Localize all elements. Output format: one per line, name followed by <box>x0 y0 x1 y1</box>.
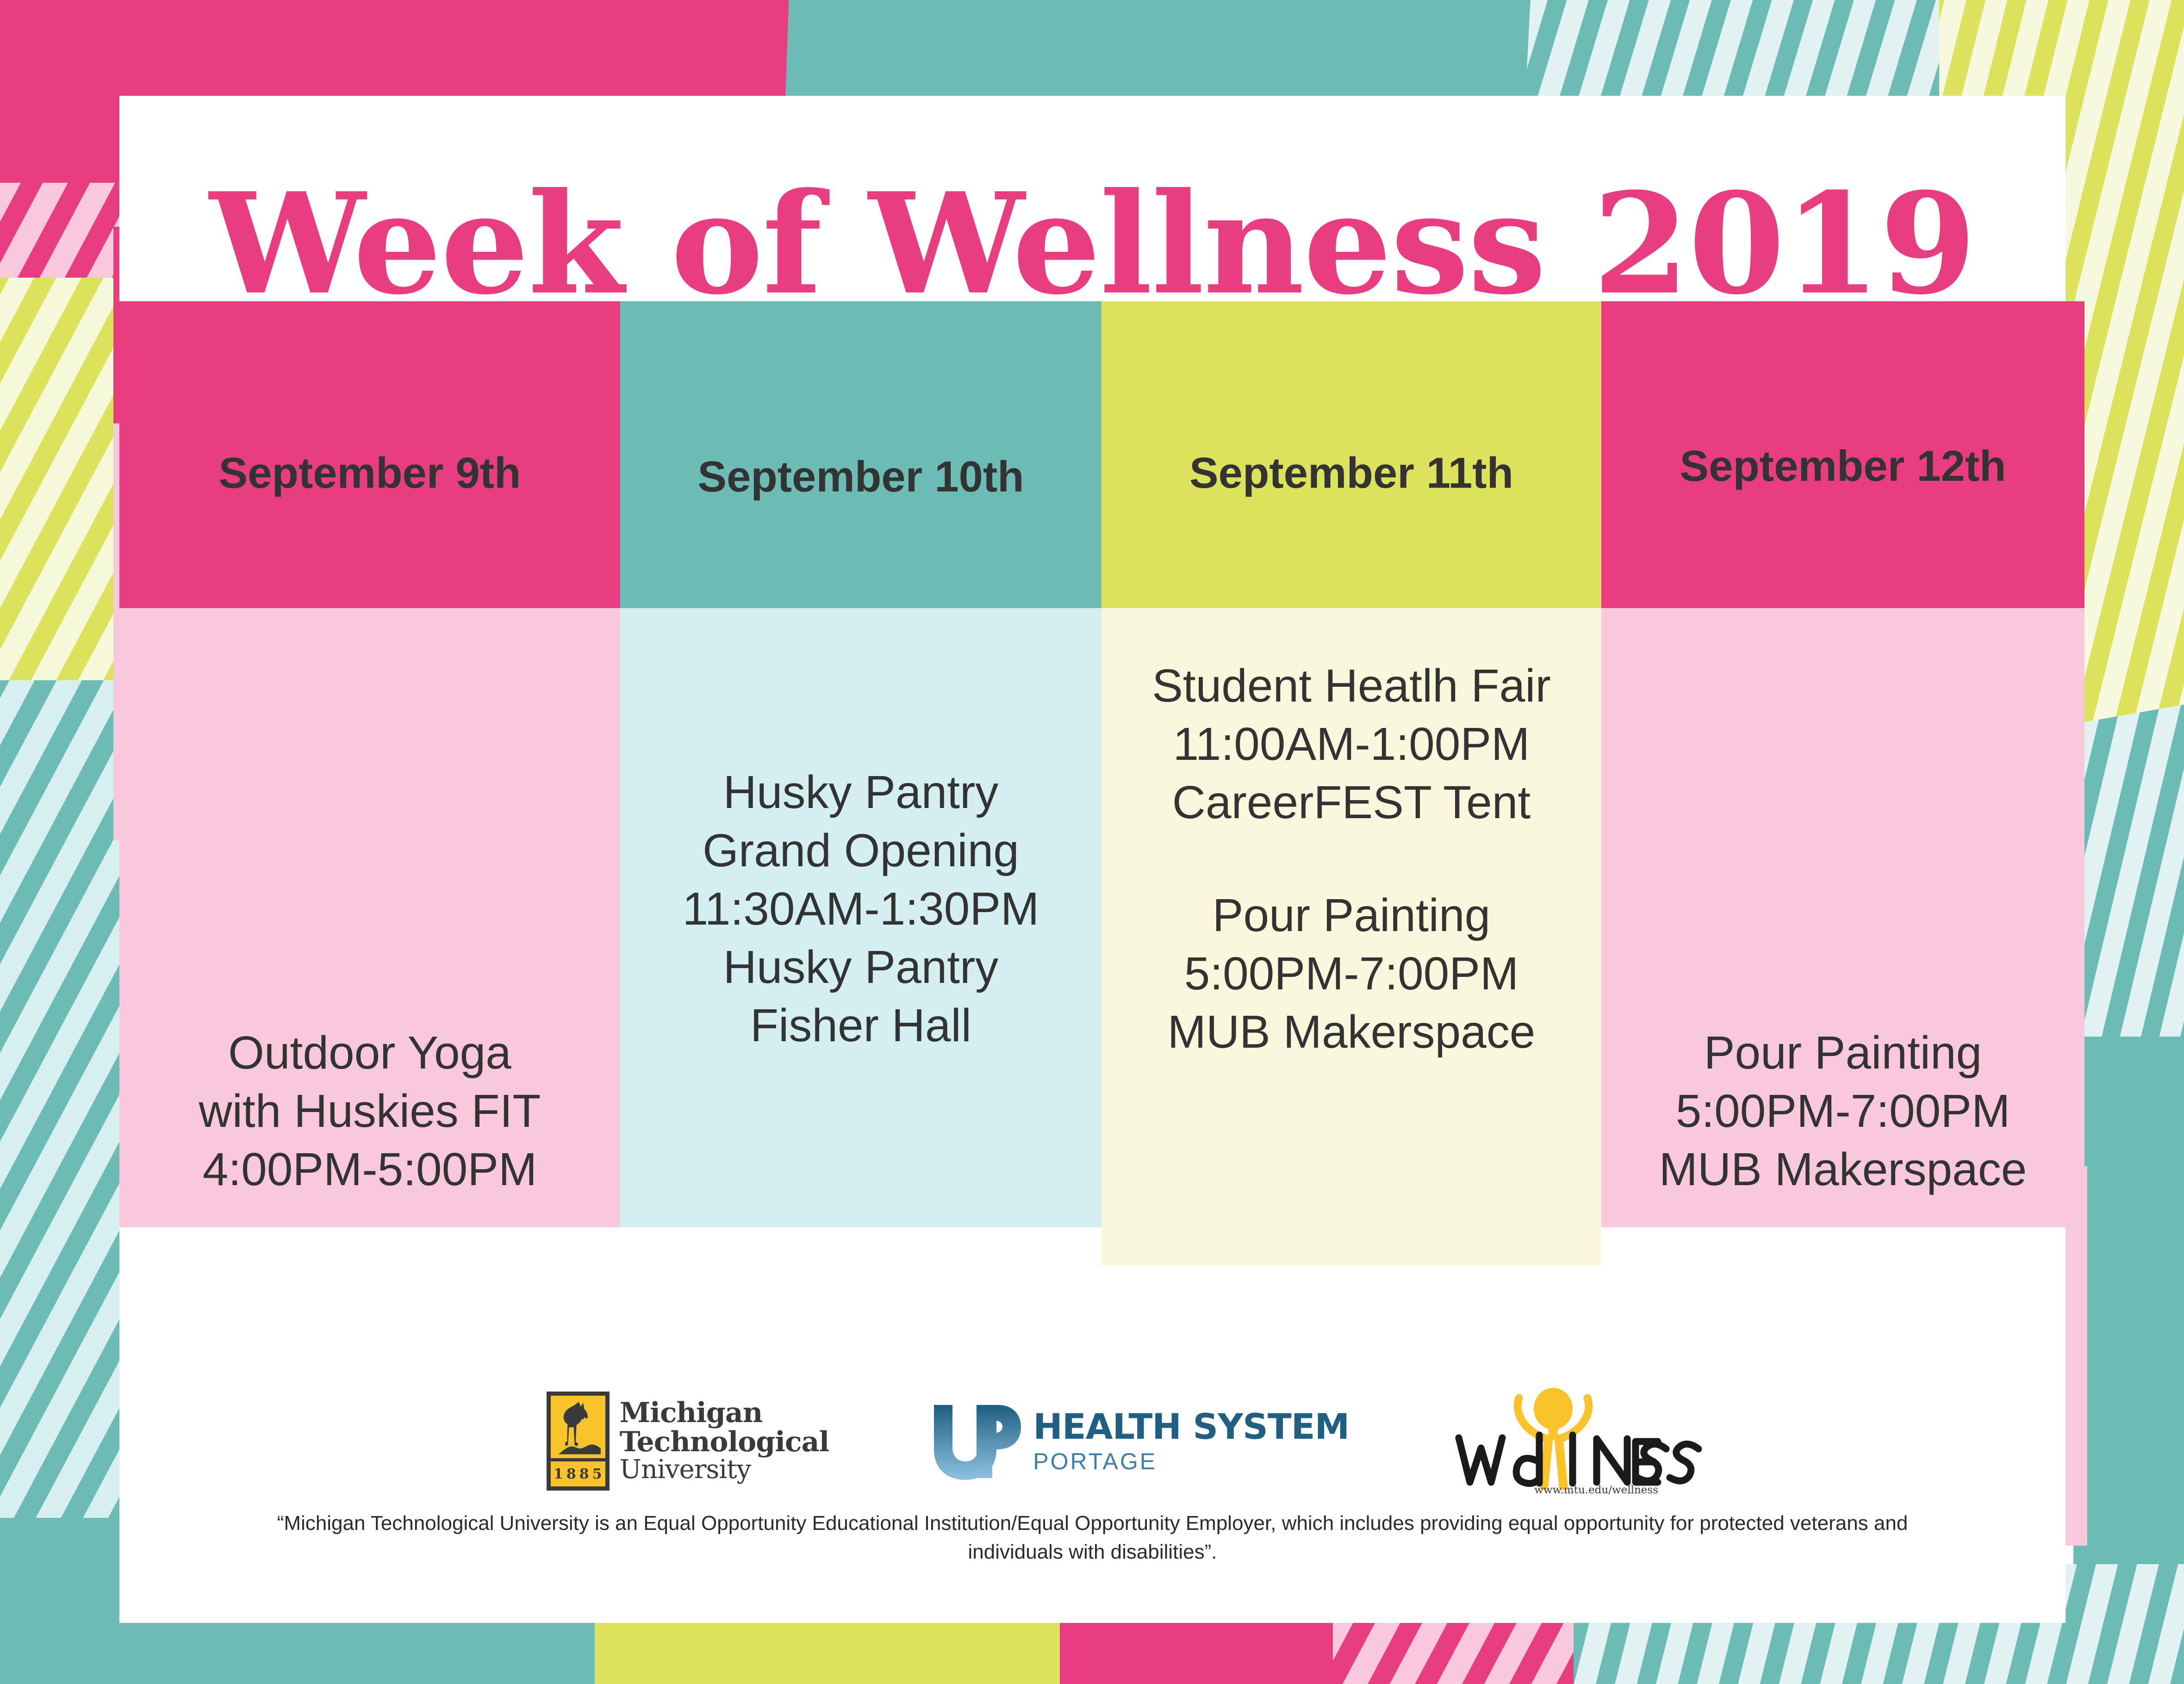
day-events-cell[interactable]: Pour Painting 5:00PM-7:00PM MUB Makerspa… <box>1601 608 2084 1227</box>
event-block: Outdoor Yoga with Huskies FIT 4:00PM-5:0… <box>119 1024 620 1199</box>
date-header-cell[interactable]: September 9th <box>119 301 620 608</box>
up-health-line1: HEALTH SYSTEM <box>1033 1409 1349 1444</box>
mtu-wordmark-line3: University <box>620 1456 829 1483</box>
poster-footer: 1885 Michigan Technological University <box>119 1383 2066 1567</box>
date-header-label: September 12th <box>1680 441 2006 491</box>
bg-left-pink-solid <box>0 0 120 194</box>
event-block: Pour Painting 5:00PM-7:00PM MUB Makerspa… <box>1601 1024 2084 1199</box>
date-header-cell[interactable]: September 12th <box>1601 301 2084 608</box>
bg-left-teal-stripes <box>0 680 120 1536</box>
wellness-logo[interactable]: www.mtu.edu/wellness <box>1449 1383 1708 1499</box>
up-health-system-logo[interactable]: HEALTH SYSTEM PORTAGE <box>928 1395 1349 1487</box>
mtu-wordmark-line1: Michigan <box>620 1398 829 1427</box>
day-events-cell[interactable]: Outdoor Yoga with Huskies FIT 4:00PM-5:0… <box>119 608 620 1227</box>
mtu-badge: 1885 <box>547 1392 610 1491</box>
date-header-label: September 11th <box>1189 448 1513 498</box>
calendar-header-row: September 9th September 10th September 1… <box>119 301 2184 608</box>
event-spacer <box>1101 832 1601 886</box>
calendar-content-row: Outdoor Yoga with Huskies FIT 4:00PM-5:0… <box>119 608 2184 1265</box>
date-header-label: September 9th <box>219 448 521 498</box>
wellness-wordmark-icon <box>1449 1383 1708 1499</box>
sponsor-logo-row: 1885 Michigan Technological University <box>119 1383 2066 1499</box>
up-health-line2: PORTAGE <box>1033 1450 1349 1473</box>
event-block: Husky Pantry Grand Opening 11:30AM-1:30P… <box>620 763 1101 1055</box>
date-header-cell[interactable]: September 10th <box>620 301 1101 608</box>
day-events-cell[interactable]: Husky Pantry Grand Opening 11:30AM-1:30P… <box>620 608 1101 1227</box>
page-title: Week of Wellness 2019 <box>210 174 1976 313</box>
date-header-label: September 10th <box>697 452 1024 502</box>
mtu-founded-year: 1885 <box>551 1458 605 1486</box>
wellness-url: www.mtu.edu/wellness <box>1534 1484 1658 1496</box>
michigan-tech-logo[interactable]: 1885 Michigan Technological University <box>547 1392 829 1491</box>
mtu-wordmark-line2: Technological <box>620 1428 829 1456</box>
day-events-cell[interactable]: Student Heatlh Fair 11:00AM-1:00PM Caree… <box>1101 608 1601 1265</box>
bg-left-lime-stripes <box>0 278 120 690</box>
event-block: Pour Painting 5:00PM-7:00PM MUB Makerspa… <box>1101 886 1601 1061</box>
mtu-wordmark: Michigan Technological University <box>620 1398 829 1483</box>
date-header-cell[interactable]: September 11th <box>1101 301 1601 608</box>
event-block: Student Heatlh Fair 11:00AM-1:00PM Caree… <box>1101 657 1601 832</box>
husky-icon <box>551 1396 605 1458</box>
up-monogram-icon <box>928 1395 1021 1487</box>
bg-top-pink-block <box>0 0 815 111</box>
calendar-grid: September 9th September 10th September 1… <box>119 301 2184 1265</box>
up-health-wordmark: HEALTH SYSTEM PORTAGE <box>1033 1409 1349 1473</box>
equal-opportunity-disclaimer: “Michigan Technological University is an… <box>119 1509 2066 1567</box>
poster-root: Week of Wellness 2019 September 9th Sept… <box>0 0 2184 1684</box>
